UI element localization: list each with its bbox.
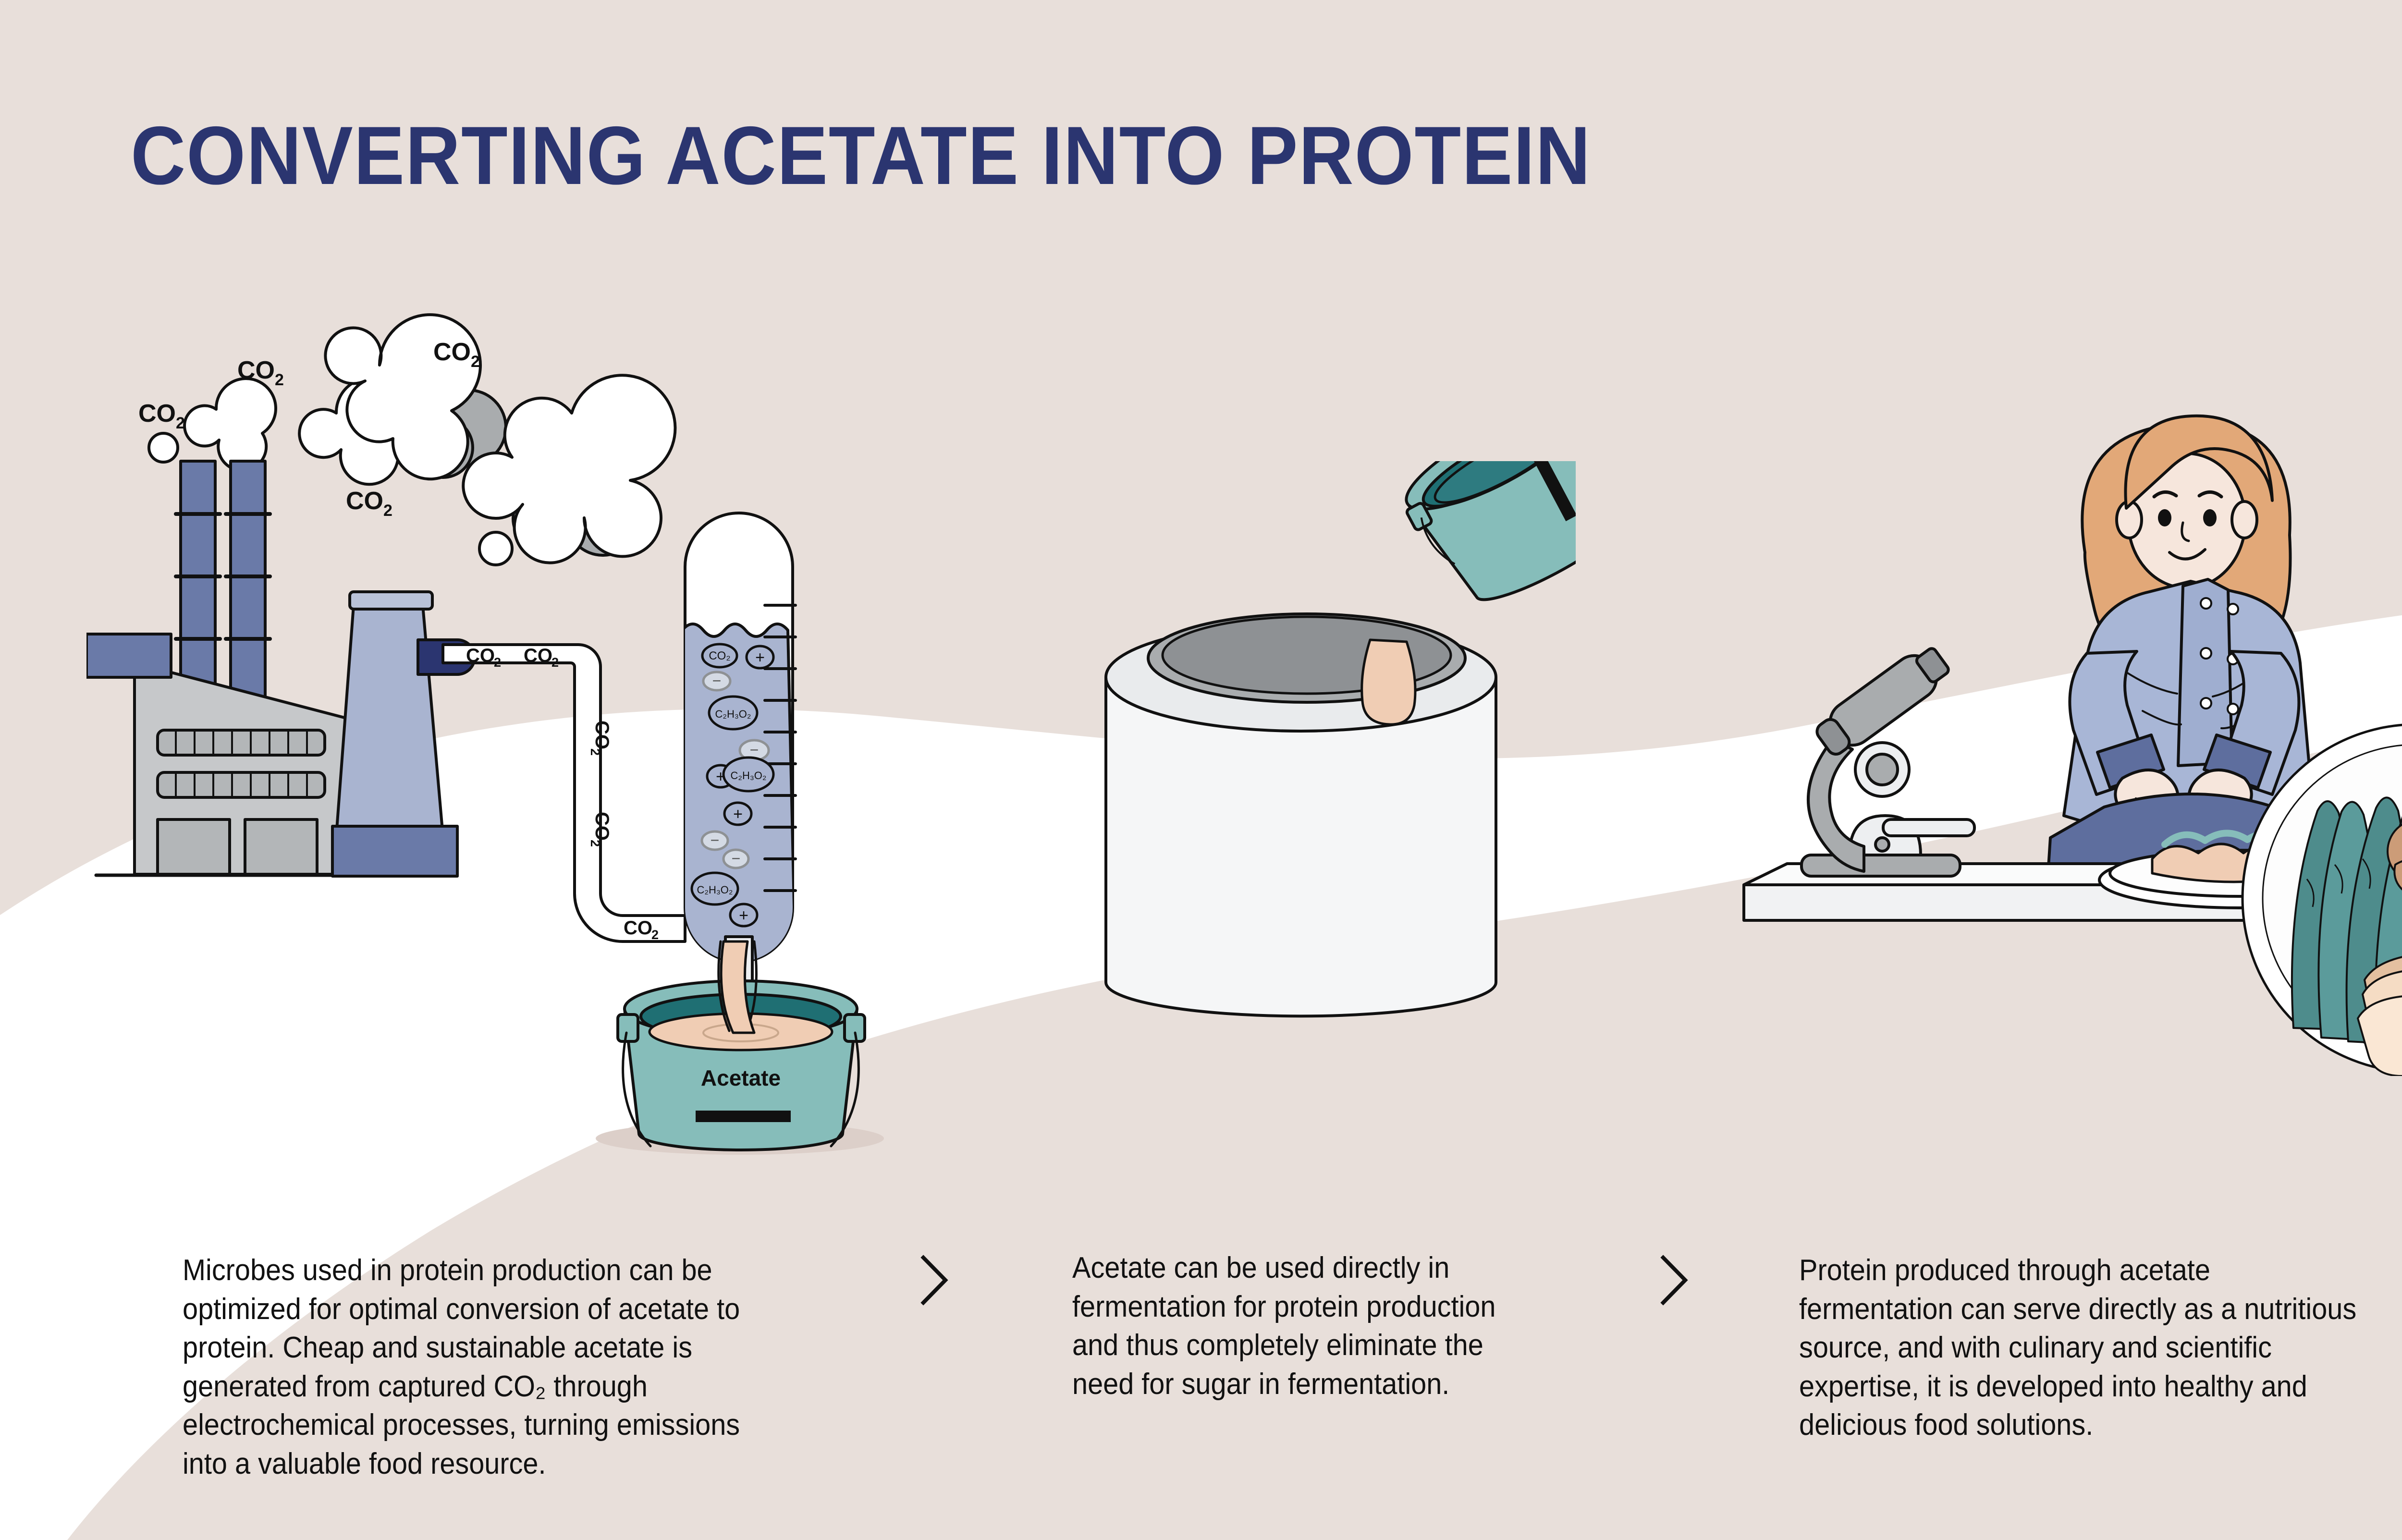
caption-1: Microbes used in protein production can … (183, 1251, 772, 1484)
co2-label-cloud-1: CO (138, 400, 176, 428)
liquid-stream (1362, 640, 1415, 724)
co2-cloud-group (149, 315, 675, 565)
co2-label-cloud-3-sub: 2 (471, 353, 480, 371)
bubble-label-minus-2: − (750, 741, 759, 758)
bubble-label-minus-4: − (732, 850, 741, 867)
chevron-right-icon-2 (1653, 1249, 1696, 1311)
bubble-label-plus-2: + (716, 768, 725, 786)
pouring-bucket (1390, 461, 1576, 622)
co2-pipe-label-1: CO (466, 645, 495, 666)
co2-label-cloud-1-sub: 2 (176, 414, 185, 432)
bubble-label-minus-1: − (712, 672, 722, 689)
bubble-label-plus-3: + (733, 805, 743, 823)
scene-fermenter (1047, 461, 1576, 1028)
co2-pipe-label-4-sub: 2 (588, 840, 602, 847)
co2-pipe-label-3-sub: 2 (588, 748, 602, 756)
co2-label-cloud-4-sub: 2 (383, 501, 392, 520)
co2-pipe-label-4: CO (591, 812, 613, 841)
co2-pipe-label-5-sub: 2 (651, 928, 659, 942)
bubble-label-plus-4: + (739, 906, 748, 925)
co2-pipe-label-2: CO (524, 645, 552, 666)
chevron-right-icon-1 (913, 1249, 956, 1311)
bubble-label-minus-3: − (711, 831, 720, 849)
acetate-bucket-label: Acetate (701, 1065, 781, 1090)
co2-label-cloud-4: CO (346, 487, 383, 515)
bubble-label-acetate-1: C₂H₃O₂ (715, 708, 751, 720)
co2-pipe-label-3: CO (591, 721, 613, 749)
page-title: CONVERTING ACETATE INTO PROTEIN (131, 114, 1591, 197)
caption-2: Acetate can be used directly in fermenta… (1072, 1249, 1537, 1404)
bubble-label-acetate-3: C₂H₃O₂ (697, 884, 733, 896)
bubble-label-co2: CO₂ (709, 649, 730, 662)
co2-label-cloud-3: CO (433, 338, 471, 366)
co2-pipe (443, 645, 685, 941)
bubble-label-acetate-2: C₂H₃O₂ (731, 770, 767, 782)
bucket-black-bar (696, 1111, 791, 1122)
acetate-bucket: Acetate (596, 941, 884, 1155)
scene-food-plate (2234, 721, 2402, 1076)
bubble-label-plus-1: + (755, 648, 765, 667)
co2-label-cloud-2-sub: 2 (275, 371, 284, 389)
co2-label-cloud-2: CO (237, 356, 275, 384)
microscope (1801, 640, 1974, 876)
scene-factory: CO 2 CO 2 CO 2 CO 2 (86, 269, 894, 1158)
co2-pipe-label-5: CO (624, 917, 652, 939)
infographic-canvas: CONVERTING ACETATE INTO PROTEIN CO 2 (0, 0, 2402, 1540)
co2-pipe-label-1-sub: 2 (494, 655, 501, 670)
caption-3: Protein produced through acetate ferment… (1799, 1251, 2358, 1445)
co2-pipe-label-2-sub: 2 (551, 655, 559, 670)
